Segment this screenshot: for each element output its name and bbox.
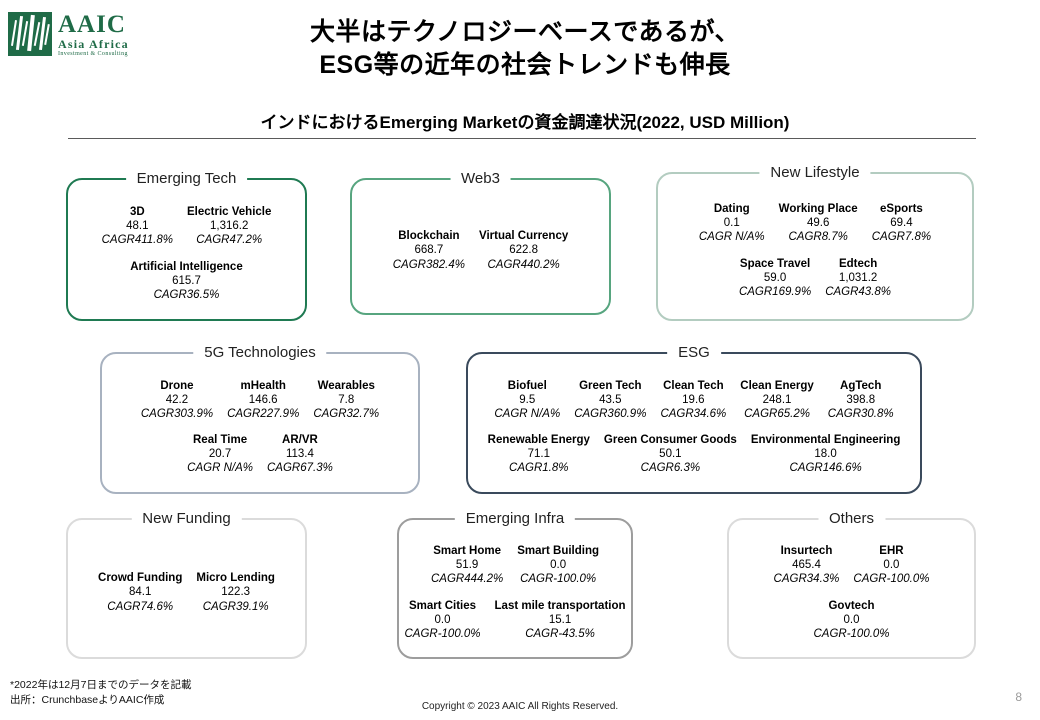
sector-cagr: CAGR7.8% <box>872 230 931 244</box>
logo-subtagline: Investment & Consulting <box>58 51 129 57</box>
logo-name: AAIC <box>58 12 129 37</box>
sector-name: Edtech <box>825 257 891 271</box>
sector-name: Virtual Currency <box>479 229 568 243</box>
sector-value: 84.1 <box>98 585 182 599</box>
sector-name: Environmental Engineering <box>751 433 901 447</box>
page-title: 大半はテクノロジーベースであるが、 ESG等の近年の社会トレンドも伸長 <box>185 16 865 82</box>
category-box-emerging-infra: Emerging InfraSmart Home51.9CAGR444.2%Sm… <box>397 518 633 659</box>
sector-row: Smart Home51.9CAGR444.2%Smart Building0.… <box>405 544 625 586</box>
sector-name: Green Consumer Goods <box>604 433 737 447</box>
sector-item: Blockchain668.7CAGR382.4% <box>386 229 472 271</box>
sector-cagr: CAGR8.7% <box>779 230 858 244</box>
sector-item: Insurtech465.4CAGR34.3% <box>767 544 847 586</box>
category-box-new-funding: New FundingCrowd Funding84.1CAGR74.6%Mic… <box>66 518 307 659</box>
sector-cagr: CAGR N/A% <box>187 461 253 475</box>
sector-row: Dating0.1CAGR N/A%Working Place49.6CAGR8… <box>664 202 966 244</box>
sector-name: Working Place <box>779 202 858 216</box>
sector-value: 615.7 <box>130 274 242 288</box>
sector-item: Wearables7.8CAGR32.7% <box>306 379 386 421</box>
sector-cagr: CAGR1.8% <box>488 461 590 475</box>
sector-cagr: CAGR N/A% <box>699 230 765 244</box>
sector-name: Micro Lending <box>196 571 275 585</box>
sector-cagr: CAGR-100.0% <box>853 572 929 586</box>
sector-item: Crowd Funding84.1CAGR74.6% <box>91 571 189 613</box>
sector-cagr: CAGR169.9% <box>739 285 811 299</box>
sector-row: Crowd Funding84.1CAGR74.6%Micro Lending1… <box>74 571 299 613</box>
sector-cagr: CAGR47.2% <box>187 233 271 247</box>
category-box-5g-technologies: 5G TechnologiesDrone42.2CAGR303.9%mHealt… <box>100 352 420 494</box>
sector-cagr: CAGR444.2% <box>431 572 503 586</box>
sector-row: Renewable Energy71.1CAGR1.8%Green Consum… <box>474 433 914 475</box>
category-rows: Insurtech465.4CAGR34.3%EHR0.0CAGR-100.0%… <box>729 520 974 657</box>
sector-item: AgTech398.8CAGR30.8% <box>821 379 901 421</box>
sector-name: Clean Energy <box>740 379 814 393</box>
sector-cagr: CAGR303.9% <box>141 407 213 421</box>
sector-item: eSports69.4CAGR7.8% <box>865 202 938 244</box>
footnote-line-1: *2022年は12月7日までのデータを記載 <box>10 678 191 693</box>
sector-value: 51.9 <box>431 558 503 572</box>
sector-value: 20.7 <box>187 447 253 461</box>
sector-name: Smart Building <box>517 544 599 558</box>
sector-value: 49.6 <box>779 216 858 230</box>
sector-cagr: CAGR-100.0% <box>813 627 889 641</box>
category-box-new-lifestyle: New LifestyleDating0.1CAGR N/A%Working P… <box>656 172 974 321</box>
logo-wordmark: AAIC Asia Africa Investment & Consulting <box>58 12 129 57</box>
sector-cagr: CAGR30.8% <box>828 407 894 421</box>
sector-value: 19.6 <box>660 393 726 407</box>
sector-value: 15.1 <box>495 613 626 627</box>
sector-value: 48.1 <box>102 219 173 233</box>
sector-item: Renewable Energy71.1CAGR1.8% <box>481 433 597 475</box>
sector-cagr: CAGR146.6% <box>751 461 901 475</box>
sector-item: mHealth146.6CAGR227.9% <box>220 379 306 421</box>
sector-name: Green Tech <box>574 379 646 393</box>
sector-item: Drone42.2CAGR303.9% <box>134 379 220 421</box>
sector-item: Last mile transportation15.1CAGR-43.5% <box>488 599 633 641</box>
sector-value: 9.5 <box>494 393 560 407</box>
sector-cagr: CAGR74.6% <box>98 600 182 614</box>
sector-item: Dating0.1CAGR N/A% <box>692 202 772 244</box>
sector-item: Govtech0.0CAGR-100.0% <box>806 599 896 641</box>
sector-name: Crowd Funding <box>98 571 182 585</box>
sector-item: Working Place49.6CAGR8.7% <box>772 202 865 244</box>
sector-item: Green Tech43.5CAGR360.9% <box>567 379 653 421</box>
sector-cagr: CAGR34.6% <box>660 407 726 421</box>
sector-name: AgTech <box>828 379 894 393</box>
sector-value: 0.0 <box>813 613 889 627</box>
sector-cagr: CAGR227.9% <box>227 407 299 421</box>
sector-name: EHR <box>853 544 929 558</box>
sector-name: Drone <box>141 379 213 393</box>
sector-name: Smart Cities <box>404 599 480 613</box>
aaic-logo: AAIC Asia Africa Investment & Consulting <box>8 8 158 60</box>
sector-item: Smart Home51.9CAGR444.2% <box>424 544 510 586</box>
sector-name: Insurtech <box>774 544 840 558</box>
category-rows: Drone42.2CAGR303.9%mHealth146.6CAGR227.9… <box>102 354 418 492</box>
sector-cagr: CAGR67.3% <box>267 461 333 475</box>
sector-item: Real Time20.7CAGR N/A% <box>180 433 260 475</box>
logo-brushstroke-icon <box>8 12 52 56</box>
sector-value: 398.8 <box>828 393 894 407</box>
sector-value: 0.0 <box>404 613 480 627</box>
sector-value: 43.5 <box>574 393 646 407</box>
sector-cagr: CAGR34.3% <box>774 572 840 586</box>
sector-name: Govtech <box>813 599 889 613</box>
sector-cagr: CAGR39.1% <box>196 600 275 614</box>
sector-value: 50.1 <box>604 447 737 461</box>
logo-tagline: Asia Africa <box>58 38 129 50</box>
sector-value: 0.0 <box>517 558 599 572</box>
sector-cagr: CAGR-100.0% <box>517 572 599 586</box>
sector-row: Insurtech465.4CAGR34.3%EHR0.0CAGR-100.0% <box>735 544 968 586</box>
sector-item: 3D48.1CAGR411.8% <box>95 205 180 247</box>
sector-value: 69.4 <box>872 216 931 230</box>
sector-value: 465.4 <box>774 558 840 572</box>
sector-row: Real Time20.7CAGR N/A%AR/VR113.4CAGR67.3… <box>108 433 412 475</box>
sector-cagr: CAGR-100.0% <box>404 627 480 641</box>
sector-name: Blockchain <box>393 229 465 243</box>
sector-name: 3D <box>102 205 173 219</box>
sector-value: 622.8 <box>479 243 568 257</box>
sector-cagr: CAGR411.8% <box>102 233 173 247</box>
category-rows: Smart Home51.9CAGR444.2%Smart Building0.… <box>399 520 631 657</box>
sector-item: AR/VR113.4CAGR67.3% <box>260 433 340 475</box>
sector-name: Smart Home <box>431 544 503 558</box>
sector-name: eSports <box>872 202 931 216</box>
sector-cagr: CAGR65.2% <box>740 407 814 421</box>
sector-value: 18.0 <box>751 447 901 461</box>
page-title-line-1: 大半はテクノロジーベースであるが、 <box>185 16 865 49</box>
sector-row: Biofuel9.5CAGR N/A%Green Tech43.5CAGR360… <box>474 379 914 421</box>
category-box-esg: ESGBiofuel9.5CAGR N/A%Green Tech43.5CAGR… <box>466 352 922 494</box>
sector-item: Electric Vehicle1,316.2CAGR47.2% <box>180 205 278 247</box>
sector-item: Smart Building0.0CAGR-100.0% <box>510 544 606 586</box>
sector-cagr: CAGR32.7% <box>313 407 379 421</box>
sector-value: 1,316.2 <box>187 219 271 233</box>
category-box-others: OthersInsurtech465.4CAGR34.3%EHR0.0CAGR-… <box>727 518 976 659</box>
category-rows: 3D48.1CAGR411.8%Electric Vehicle1,316.2C… <box>68 180 305 319</box>
page-title-line-2: ESG等の近年の社会トレンドも伸長 <box>185 49 865 82</box>
sector-row: 3D48.1CAGR411.8%Electric Vehicle1,316.2C… <box>74 205 299 247</box>
sector-item: Artificial Intelligence615.7CAGR36.5% <box>123 260 249 302</box>
sector-item: Environmental Engineering18.0CAGR146.6% <box>744 433 908 475</box>
sector-value: 71.1 <box>488 447 590 461</box>
sector-cagr: CAGR43.8% <box>825 285 891 299</box>
sector-item: Micro Lending122.3CAGR39.1% <box>189 571 282 613</box>
sector-value: 668.7 <box>393 243 465 257</box>
sector-value: 248.1 <box>740 393 814 407</box>
sector-item: Edtech1,031.2CAGR43.8% <box>818 257 898 299</box>
sector-cagr: CAGR N/A% <box>494 407 560 421</box>
page-number: 8 <box>1015 690 1022 704</box>
sector-row: Smart Cities0.0CAGR-100.0%Last mile tran… <box>405 599 625 641</box>
sector-name: Real Time <box>187 433 253 447</box>
sector-value: 0.1 <box>699 216 765 230</box>
category-rows: Crowd Funding84.1CAGR74.6%Micro Lending1… <box>68 520 305 657</box>
category-rows: Dating0.1CAGR N/A%Working Place49.6CAGR8… <box>658 174 972 319</box>
sector-item: Clean Energy248.1CAGR65.2% <box>733 379 821 421</box>
sector-row: Drone42.2CAGR303.9%mHealth146.6CAGR227.9… <box>108 379 412 421</box>
sector-cagr: CAGR440.2% <box>479 258 568 272</box>
sector-row: Govtech0.0CAGR-100.0% <box>735 599 968 641</box>
sector-name: Renewable Energy <box>488 433 590 447</box>
sector-cagr: CAGR382.4% <box>393 258 465 272</box>
sector-name: Artificial Intelligence <box>130 260 242 274</box>
sector-item: Biofuel9.5CAGR N/A% <box>487 379 567 421</box>
sector-cagr: CAGR36.5% <box>130 288 242 302</box>
category-box-emerging-tech: Emerging Tech3D48.1CAGR411.8%Electric Ve… <box>66 178 307 321</box>
category-rows: Blockchain668.7CAGR382.4%Virtual Currenc… <box>352 180 609 313</box>
sector-item: Clean Tech19.6CAGR34.6% <box>653 379 733 421</box>
sector-name: Last mile transportation <box>495 599 626 613</box>
sector-item: Smart Cities0.0CAGR-100.0% <box>397 599 487 641</box>
page-subtitle: インドにおけるEmerging Marketの資金調達状況(2022, USD … <box>60 108 990 133</box>
sector-name: Clean Tech <box>660 379 726 393</box>
sector-value: 59.0 <box>739 271 811 285</box>
sector-name: Biofuel <box>494 379 560 393</box>
sector-value: 42.2 <box>141 393 213 407</box>
sector-row: Artificial Intelligence615.7CAGR36.5% <box>74 260 299 302</box>
sector-value: 113.4 <box>267 447 333 461</box>
sector-value: 122.3 <box>196 585 275 599</box>
header-divider <box>68 138 976 139</box>
sector-value: 146.6 <box>227 393 299 407</box>
category-box-web3: Web3Blockchain668.7CAGR382.4%Virtual Cur… <box>350 178 611 315</box>
sector-name: Wearables <box>313 379 379 393</box>
sector-row: Space Travel59.0CAGR169.9%Edtech1,031.2C… <box>664 257 966 299</box>
sector-item: EHR0.0CAGR-100.0% <box>846 544 936 586</box>
category-rows: Biofuel9.5CAGR N/A%Green Tech43.5CAGR360… <box>468 354 920 492</box>
sector-cagr: CAGR360.9% <box>574 407 646 421</box>
sector-name: Electric Vehicle <box>187 205 271 219</box>
sector-item: Green Consumer Goods50.1CAGR6.3% <box>597 433 744 475</box>
sector-name: Space Travel <box>739 257 811 271</box>
sector-cagr: CAGR6.3% <box>604 461 737 475</box>
sector-cagr: CAGR-43.5% <box>495 627 626 641</box>
sector-item: Virtual Currency622.8CAGR440.2% <box>472 229 575 271</box>
sector-value: 7.8 <box>313 393 379 407</box>
sector-value: 0.0 <box>853 558 929 572</box>
sector-name: AR/VR <box>267 433 333 447</box>
sector-value: 1,031.2 <box>825 271 891 285</box>
copyright-notice: Copyright © 2023 AAIC All Rights Reserve… <box>0 701 1040 712</box>
sector-row: Blockchain668.7CAGR382.4%Virtual Currenc… <box>358 229 603 271</box>
sector-item: Space Travel59.0CAGR169.9% <box>732 257 818 299</box>
sector-name: mHealth <box>227 379 299 393</box>
sector-name: Dating <box>699 202 765 216</box>
